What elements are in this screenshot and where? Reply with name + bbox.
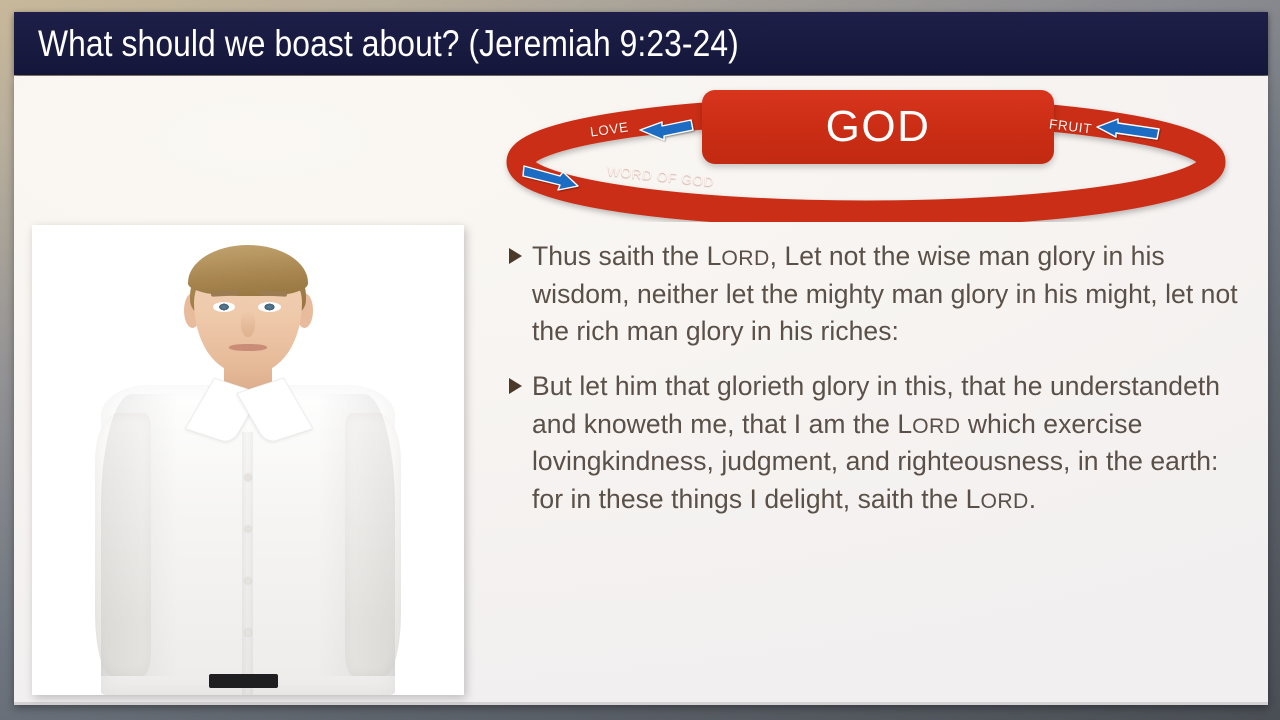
bullet-text: But let him that glorieth glory in this,… bbox=[532, 371, 1220, 514]
photo-shirt-button bbox=[245, 474, 251, 481]
photo-hair-fringe bbox=[188, 245, 307, 297]
slide-bottom-edge bbox=[14, 702, 1268, 705]
page-title: What should we boast about? (Jeremiah 9:… bbox=[38, 23, 853, 65]
bullet-item: Thus saith the LORD, Let not the wise ma… bbox=[506, 238, 1244, 351]
portrait-photo bbox=[32, 225, 464, 695]
photo-belt bbox=[209, 674, 278, 688]
triangle-bullet-icon bbox=[509, 248, 522, 264]
portrait-photo-image bbox=[32, 225, 464, 695]
page-title-text: What should we boast about? (Jeremiah 9:… bbox=[38, 23, 739, 65]
slide-title-bar: What should we boast about? (Jeremiah 9:… bbox=[14, 12, 1268, 75]
god-center-box: GOD bbox=[702, 90, 1054, 164]
photo-shirt-placket bbox=[242, 432, 253, 695]
photo-shoulder-shade-right bbox=[317, 394, 395, 676]
photo-eye-right bbox=[258, 302, 280, 312]
bullet-item: But let him that glorieth glory in this,… bbox=[506, 368, 1244, 519]
god-cycle-diagram: GOD LOVE FRUIT WORD OF GOD bbox=[484, 82, 1254, 222]
photo-eye-left bbox=[213, 302, 235, 312]
slide-content-area: GOD LOVE FRUIT WORD OF GOD Thus saith th… bbox=[14, 76, 1268, 705]
photo-shoulder-shade-left bbox=[101, 394, 179, 676]
triangle-bullet-icon bbox=[509, 378, 522, 394]
photo-mouth bbox=[229, 344, 266, 351]
scripture-bullet-list: Thus saith the LORD, Let not the wise ma… bbox=[506, 238, 1244, 535]
slide-outer-frame: What should we boast about? (Jeremiah 9:… bbox=[0, 0, 1280, 720]
bullet-text: Thus saith the LORD, Let not the wise ma… bbox=[532, 241, 1238, 346]
photo-shirt-button bbox=[245, 578, 251, 585]
god-label: GOD bbox=[826, 105, 931, 149]
photo-shirt-button bbox=[245, 629, 251, 636]
photo-nose bbox=[241, 311, 256, 336]
